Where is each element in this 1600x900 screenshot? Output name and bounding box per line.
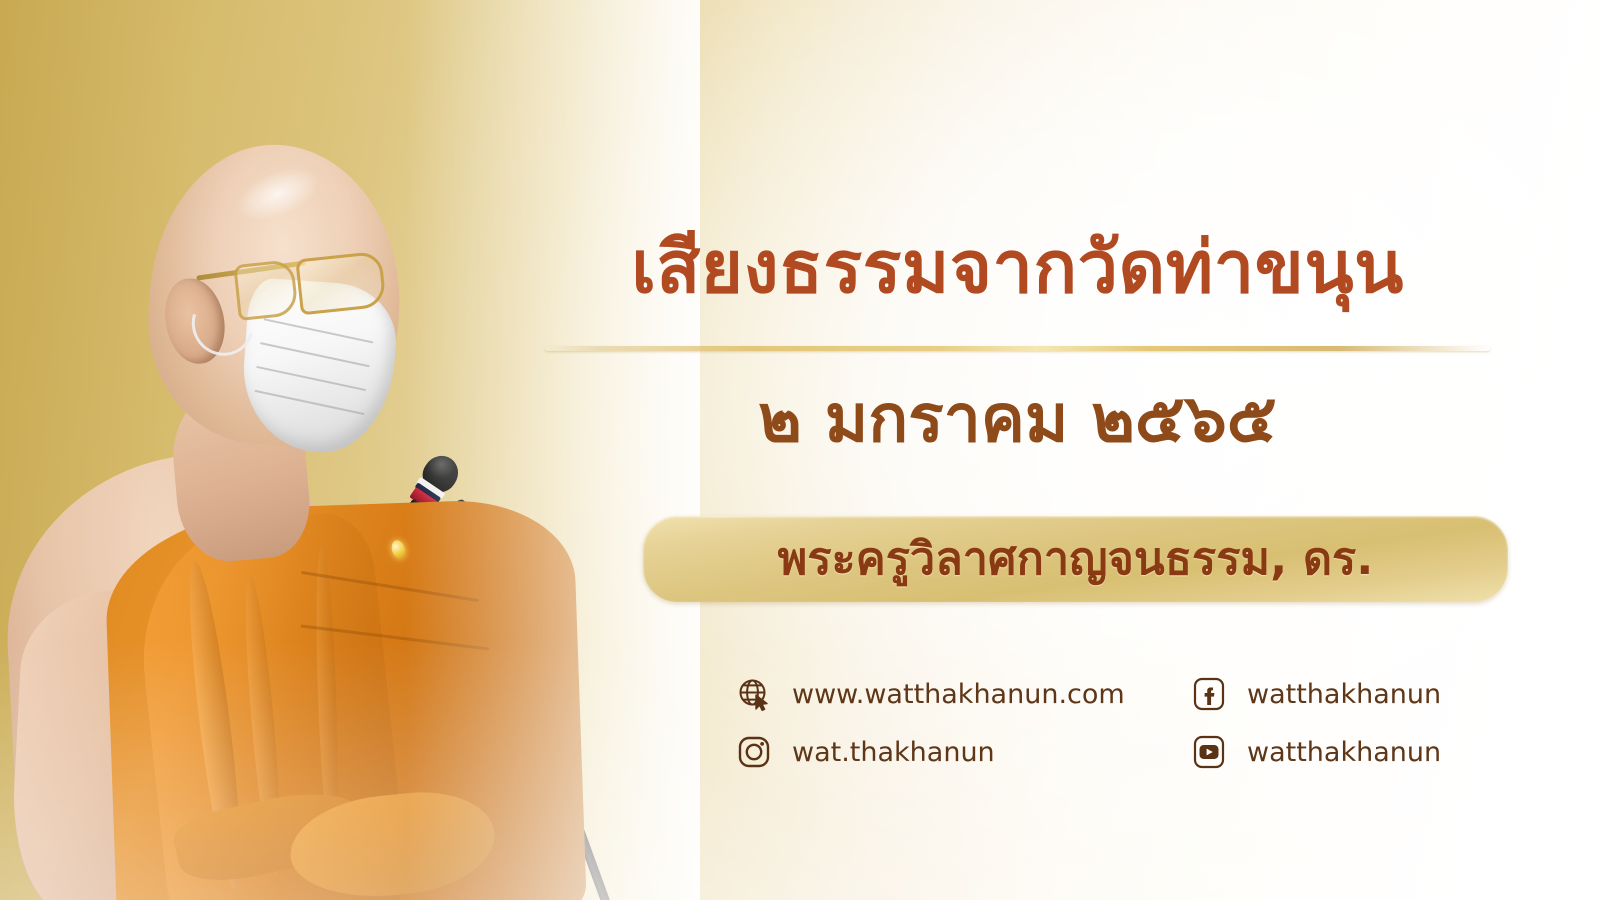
youtube-icon <box>1190 733 1228 771</box>
social-label-instagram: wat.thakhanun <box>792 739 995 766</box>
facebook-icon <box>1190 675 1228 713</box>
social-link-youtube[interactable]: watthakhanun <box>1190 733 1555 771</box>
social-label-website: www.watthakhanun.com <box>792 681 1125 708</box>
social-link-facebook[interactable]: watthakhanun <box>1190 675 1555 713</box>
content-column: เสียงธรรมจากวัดท่าขนุน ๒ มกราคม ๒๕๖๕ พระ… <box>545 0 1600 900</box>
date-text: ๒ มกราคม ๒๕๖๕ <box>545 378 1490 461</box>
social-label-youtube: watthakhanun <box>1247 739 1441 766</box>
speaker-name-banner: พระครูวิลาศกาญจนธรรม, ดร. <box>643 516 1508 602</box>
page-title: เสียงธรรมจากวัดท่าขนุน <box>545 222 1490 312</box>
dhamma-announcement-banner: เสียงธรรมจากวัดท่าขนุน ๒ มกราคม ๒๕๖๕ พระ… <box>0 0 1600 900</box>
globe-cursor-icon <box>735 675 773 713</box>
speaker-name: พระครูวิลาศกาญจนธรรม, ดร. <box>778 532 1374 586</box>
social-label-facebook: watthakhanun <box>1247 681 1441 708</box>
gold-divider <box>545 346 1490 351</box>
social-link-instagram[interactable]: wat.thakhanun <box>735 733 1190 771</box>
social-link-website[interactable]: www.watthakhanun.com <box>735 675 1190 713</box>
social-links: www.watthakhanun.com watthakhanun <box>735 665 1555 781</box>
instagram-icon <box>735 733 773 771</box>
